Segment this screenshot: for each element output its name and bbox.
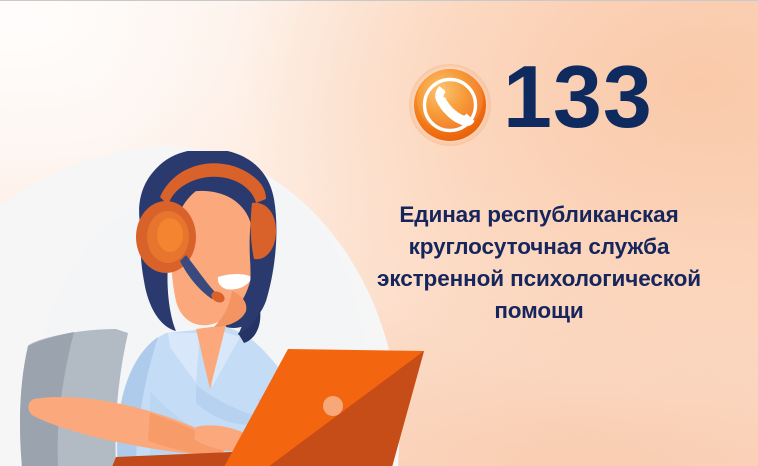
headline-line-3: экстренной психологической [332, 263, 746, 295]
headline-line-2: круглосуточная служба [332, 231, 746, 263]
headline-line-4: помощи [332, 295, 746, 327]
hotline-number: 133 [503, 53, 653, 141]
phone-handset-icon [408, 63, 492, 147]
headline-line-1: Единая республиканская [332, 199, 746, 231]
headline-text: Единая республиканская круглосуточная сл… [332, 199, 746, 327]
hotline-poster: 133 Единая республиканская круглосуточна… [0, 0, 758, 466]
